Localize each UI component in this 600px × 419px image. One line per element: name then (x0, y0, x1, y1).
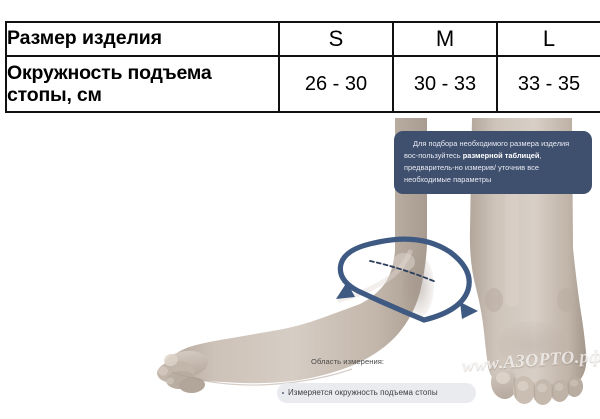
measurement-bullet-text: Измеряется окружность подъема стопы (288, 388, 438, 397)
size-chart-page: Размер изделия S M L Окружность подъема … (0, 0, 600, 419)
bullet-dot-icon (282, 392, 284, 394)
measurement-area-caption: Область измерения: (311, 357, 384, 366)
measurement-bullet-pill: Измеряется окружность подъема стопы (277, 383, 476, 403)
note-line-2a: пользуйтесь (418, 151, 463, 160)
note-bold-phrase: размерной таблицей (463, 151, 540, 160)
size-guide-note: Для подбора необходимого размера изделия… (394, 131, 592, 194)
left-foot (156, 118, 434, 394)
